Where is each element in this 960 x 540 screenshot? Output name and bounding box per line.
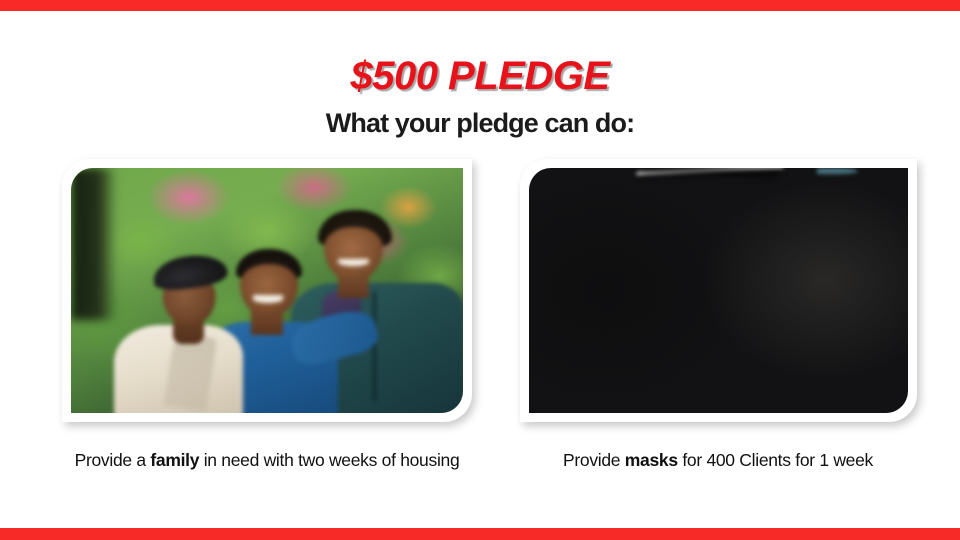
young-man-face: [240, 264, 299, 318]
tree-trunk: [71, 168, 117, 320]
pledge-card-family: [62, 159, 472, 422]
mask-ear-loop: [817, 168, 858, 174]
page-subtitle: What your pledge can do:: [0, 108, 960, 139]
woman-beret: [151, 251, 229, 293]
caption-family-prefix: Provide a: [75, 450, 151, 470]
family-photo: [71, 168, 463, 413]
top-accent-bar: [0, 0, 960, 11]
bottom-accent-bar: [0, 528, 960, 540]
caption-family-emphasis: family: [150, 450, 199, 470]
caption-masks: Provide masks for 400 Clients for 1 week: [512, 447, 924, 474]
caption-masks-suffix: for 400 Clients for 1 week: [678, 450, 873, 470]
caption-masks-prefix: Provide: [563, 450, 625, 470]
caption-family-suffix: in need with two weeks of housing: [199, 450, 459, 470]
page-title: $500 PLEDGE: [0, 54, 960, 99]
teen-face: [324, 227, 383, 281]
caption-family: Provide a family in need with two weeks …: [62, 447, 472, 474]
pledge-card-masks: [520, 159, 917, 422]
caption-masks-emphasis: masks: [625, 450, 678, 470]
family-photo-scene: [71, 168, 463, 413]
young-man-smile: [253, 295, 282, 302]
mask-photo: [529, 168, 908, 413]
slide: $500 PLEDGE What your pledge can do:: [0, 0, 960, 540]
